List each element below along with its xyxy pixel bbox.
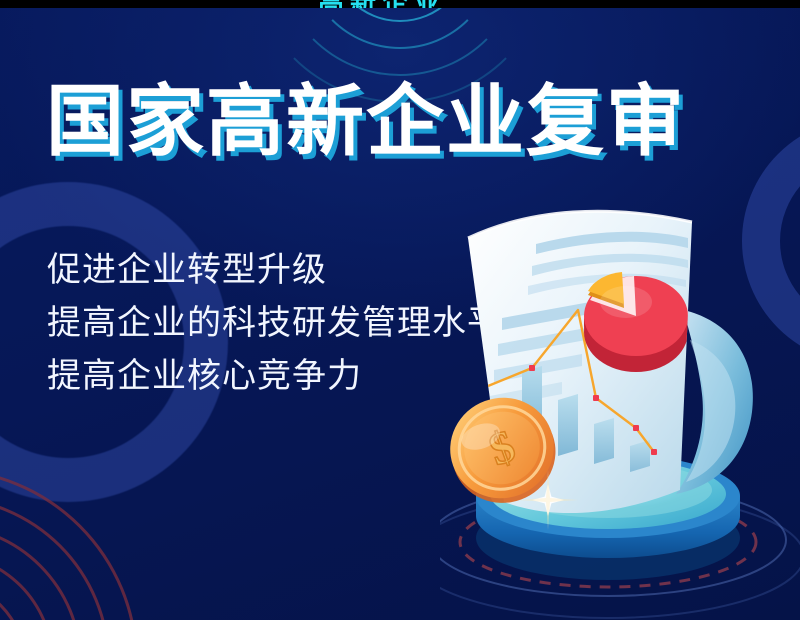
benefit-item-3: 提高企业核心竞争力 [47,350,502,403]
benefit-item-2: 提高企业的科技研发管理水平 [47,297,502,350]
illustration-document-on-podium: $ [440,190,800,620]
benefit-list: 促进企业转型升级 提高企业的科技研发管理水平 提高企业核心竞争力 [47,244,502,403]
radiating-arcs-bottom-left [0,430,270,620]
benefit-item-1: 促进企业转型升级 [47,244,502,297]
clipped-top-banner: 高新企业 [0,0,800,8]
promo-poster: 高新企业 国家高新企业复审 促进企业转型升级 提高企业的科技研发管理水平 提高企… [0,0,800,620]
clipped-top-text: 高新企业 [318,0,446,8]
page-title: 国家高新企业复审 [46,82,686,160]
